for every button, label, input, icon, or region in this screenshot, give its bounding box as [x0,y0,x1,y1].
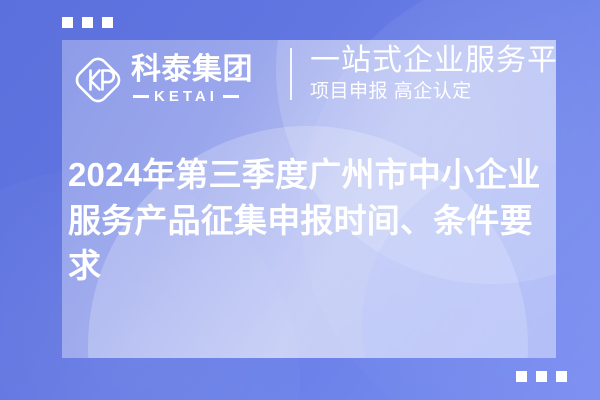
square-dot-icon [62,17,73,28]
rule-left-icon [133,95,149,98]
brand-lockup: 科泰集团 KETAI [72,44,253,116]
decoration-dots-top-left [62,17,113,28]
vertical-divider [290,48,292,100]
square-dot-icon [536,371,547,382]
content-panel: 科泰集团 KETAI 一站式企业服务平台 项目申报 高企认定 2024年第三季度… [62,40,556,358]
square-dot-icon [556,371,567,382]
brand-name-en: KETAI [154,88,218,105]
rule-right-icon [223,95,239,98]
square-dot-icon [82,17,93,28]
brand-name-cn: 科泰集团 [131,55,253,86]
square-dot-icon [516,371,527,382]
panel-content: 科泰集团 KETAI 一站式企业服务平台 项目申报 高企认定 2024年第三季度… [62,40,556,358]
brand-name-en-row: KETAI [131,88,253,105]
decoration-dots-bottom-right [516,371,567,382]
square-dot-icon [102,17,113,28]
tagline-main: 一站式企业服务平台 [310,44,556,78]
brand-wordmark: 科泰集团 KETAI [131,55,253,105]
tagline-block: 一站式企业服务平台 项目申报 高企认定 [310,44,556,103]
promo-banner: 科泰集团 KETAI 一站式企业服务平台 项目申报 高企认定 2024年第三季度… [0,0,600,400]
headline-title: 2024年第三季度广州市中小企业服务产品征集申报时间、条件要求 [68,152,550,289]
ketai-diamond-kp-logo-icon [72,54,124,106]
tagline-sub: 项目申报 高企认定 [310,81,556,104]
